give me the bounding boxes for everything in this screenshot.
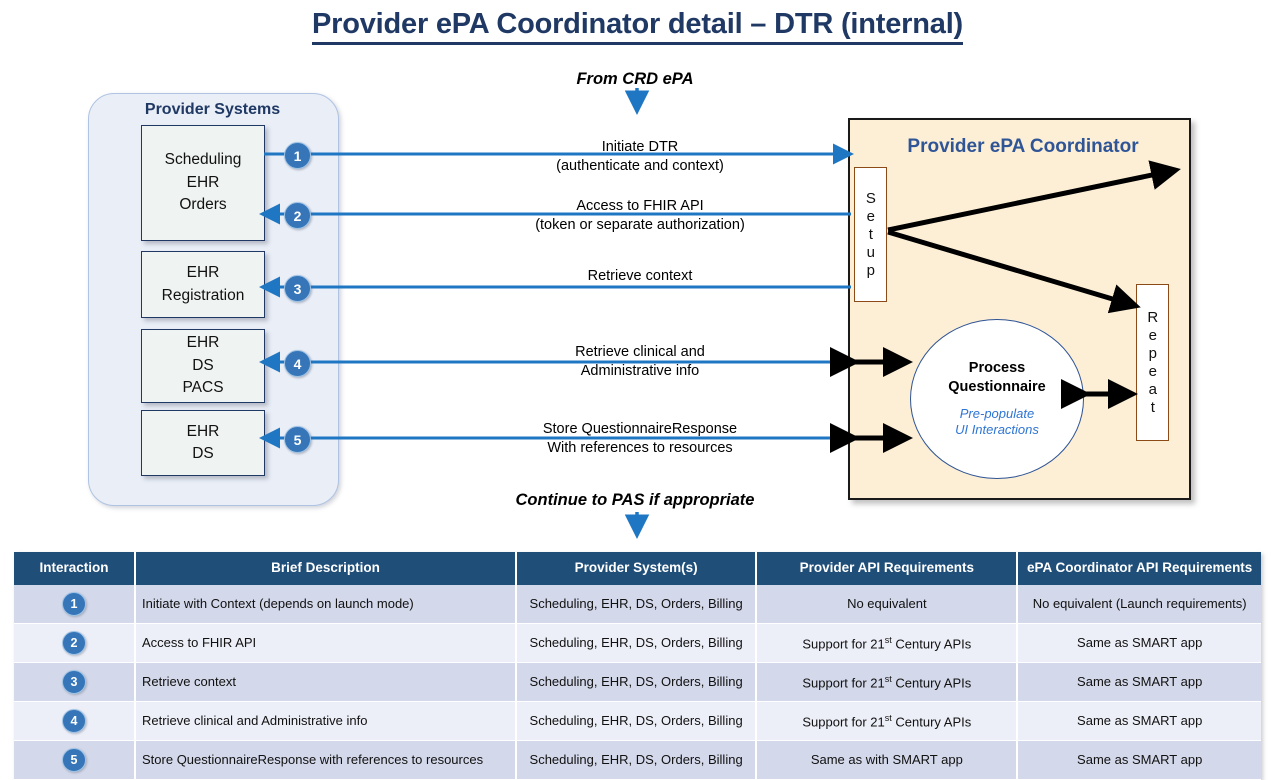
interaction-label-2: Access to FHIR API (token or separate au… bbox=[430, 197, 850, 235]
cell-interaction: 5 bbox=[14, 740, 135, 779]
row-marker-circle: 3 bbox=[62, 670, 86, 694]
provider-system-box-registration[interactable]: EHR Registration bbox=[141, 251, 265, 318]
provider-system-box-ds[interactable]: EHR DS bbox=[141, 410, 265, 476]
row-marker-circle: 5 bbox=[62, 748, 86, 772]
interaction-label-3: Retrieve context bbox=[430, 267, 850, 286]
repeat-box[interactable]: Repeat bbox=[1136, 284, 1169, 441]
ps-line: Scheduling bbox=[165, 149, 242, 171]
coordinator-title: Provider ePA Coordinator bbox=[868, 136, 1178, 158]
row-marker-circle: 1 bbox=[62, 592, 86, 616]
cell-provider-api: Same as with SMART app bbox=[756, 740, 1017, 779]
table-row[interactable]: 3Retrieve contextScheduling, EHR, DS, Or… bbox=[14, 662, 1261, 701]
cell-systems: Scheduling, EHR, DS, Orders, Billing bbox=[516, 585, 756, 624]
cell-epa-api: Same as SMART app bbox=[1017, 701, 1261, 740]
ps-line: EHR bbox=[187, 421, 220, 443]
cell-description: Retrieve context bbox=[135, 662, 516, 701]
cell-systems: Scheduling, EHR, DS, Orders, Billing bbox=[516, 740, 756, 779]
caption-continue-to-pas: Continue to PAS if appropriate bbox=[475, 491, 795, 510]
interaction-label-1: Initiate DTR (authenticate and context) bbox=[430, 138, 850, 176]
ps-line: EHR bbox=[187, 262, 220, 284]
interaction-label-5: Store QuestionnaireResponse With referen… bbox=[430, 420, 850, 458]
ps-line: EHR bbox=[187, 332, 220, 354]
col-header-interaction: Interaction bbox=[14, 552, 135, 585]
ps-line: Registration bbox=[162, 285, 245, 307]
interaction-label-3-line1: Retrieve context bbox=[430, 267, 850, 286]
cell-provider-api: No equivalent bbox=[756, 585, 1017, 624]
process-questionnaire-circle[interactable]: Process Questionnaire Pre-populate UI In… bbox=[910, 319, 1084, 479]
interaction-marker-4[interactable]: 4 bbox=[284, 350, 311, 377]
provider-system-box-pacs[interactable]: EHR DS PACS bbox=[141, 329, 265, 403]
page-title: Provider ePA Coordinator detail – DTR (i… bbox=[0, 8, 1275, 41]
interaction-label-4: Retrieve clinical and Administrative inf… bbox=[430, 343, 850, 381]
cell-provider-api: Support for 21st Century APIs bbox=[756, 662, 1017, 701]
caption-from-crd-epa: From CRD ePA bbox=[495, 70, 775, 89]
interaction-marker-2[interactable]: 2 bbox=[284, 202, 311, 229]
process-sub-2: UI Interactions bbox=[955, 422, 1039, 438]
table-body: 1Initiate with Context (depends on launc… bbox=[14, 585, 1261, 780]
interaction-label-1-line1: Initiate DTR bbox=[430, 138, 850, 157]
interaction-label-4-line2: Administrative info bbox=[430, 362, 850, 381]
cell-provider-api: Support for 21st Century APIs bbox=[756, 623, 1017, 662]
ps-line: DS bbox=[192, 443, 214, 465]
interaction-label-4-line1: Retrieve clinical and bbox=[430, 343, 850, 362]
table-row[interactable]: 5Store QuestionnaireResponse with refere… bbox=[14, 740, 1261, 779]
row-marker-circle: 2 bbox=[62, 631, 86, 655]
interaction-label-5-line1: Store QuestionnaireResponse bbox=[430, 420, 850, 439]
cell-epa-api: Same as SMART app bbox=[1017, 662, 1261, 701]
cell-systems: Scheduling, EHR, DS, Orders, Billing bbox=[516, 623, 756, 662]
cell-interaction: 2 bbox=[14, 623, 135, 662]
cell-description: Retrieve clinical and Administrative inf… bbox=[135, 701, 516, 740]
table-header-row: Interaction Brief Description Provider S… bbox=[14, 552, 1261, 585]
interaction-requirements-table: Interaction Brief Description Provider S… bbox=[14, 552, 1261, 780]
cell-epa-api: Same as SMART app bbox=[1017, 623, 1261, 662]
process-line-2: Questionnaire bbox=[948, 378, 1046, 397]
repeat-label: Repeat bbox=[1144, 309, 1162, 417]
cell-epa-api: Same as SMART app bbox=[1017, 740, 1261, 779]
table-row[interactable]: 2Access to FHIR APIScheduling, EHR, DS, … bbox=[14, 623, 1261, 662]
col-header-epa-api: ePA Coordinator API Requirements bbox=[1017, 552, 1261, 585]
interaction-label-2-line2: (token or separate authorization) bbox=[430, 216, 850, 235]
table-row[interactable]: 1Initiate with Context (depends on launc… bbox=[14, 585, 1261, 624]
cell-epa-api: No equivalent (Launch requirements) bbox=[1017, 585, 1261, 624]
col-header-description: Brief Description bbox=[135, 552, 516, 585]
cell-interaction: 1 bbox=[14, 585, 135, 624]
table-row[interactable]: 4Retrieve clinical and Administrative in… bbox=[14, 701, 1261, 740]
interaction-marker-5[interactable]: 5 bbox=[284, 426, 311, 453]
interaction-marker-3[interactable]: 3 bbox=[284, 275, 311, 302]
ps-line: PACS bbox=[182, 377, 223, 399]
ps-line: DS bbox=[192, 355, 214, 377]
cell-interaction: 3 bbox=[14, 662, 135, 701]
cell-systems: Scheduling, EHR, DS, Orders, Billing bbox=[516, 662, 756, 701]
setup-box[interactable]: Setup bbox=[854, 167, 887, 302]
interaction-label-1-line2: (authenticate and context) bbox=[430, 157, 850, 176]
ps-line: Orders bbox=[179, 194, 226, 216]
col-header-provider-api: Provider API Requirements bbox=[756, 552, 1017, 585]
cell-description: Access to FHIR API bbox=[135, 623, 516, 662]
cell-provider-api: Support for 21st Century APIs bbox=[756, 701, 1017, 740]
interaction-marker-1[interactable]: 1 bbox=[284, 142, 311, 169]
process-sub-1: Pre-populate bbox=[955, 406, 1039, 422]
ps-line: EHR bbox=[187, 172, 220, 194]
interaction-label-5-line2: With references to resources bbox=[430, 439, 850, 458]
provider-system-box-scheduling[interactable]: Scheduling EHR Orders bbox=[141, 125, 265, 241]
provider-systems-title: Provider Systems bbox=[88, 101, 337, 119]
cell-description: Store QuestionnaireResponse with referen… bbox=[135, 740, 516, 779]
col-header-systems: Provider System(s) bbox=[516, 552, 756, 585]
cell-interaction: 4 bbox=[14, 701, 135, 740]
setup-label: Setup bbox=[862, 190, 880, 280]
cell-description: Initiate with Context (depends on launch… bbox=[135, 585, 516, 624]
interaction-label-2-line1: Access to FHIR API bbox=[430, 197, 850, 216]
row-marker-circle: 4 bbox=[62, 709, 86, 733]
cell-systems: Scheduling, EHR, DS, Orders, Billing bbox=[516, 701, 756, 740]
process-line-1: Process bbox=[948, 359, 1046, 378]
